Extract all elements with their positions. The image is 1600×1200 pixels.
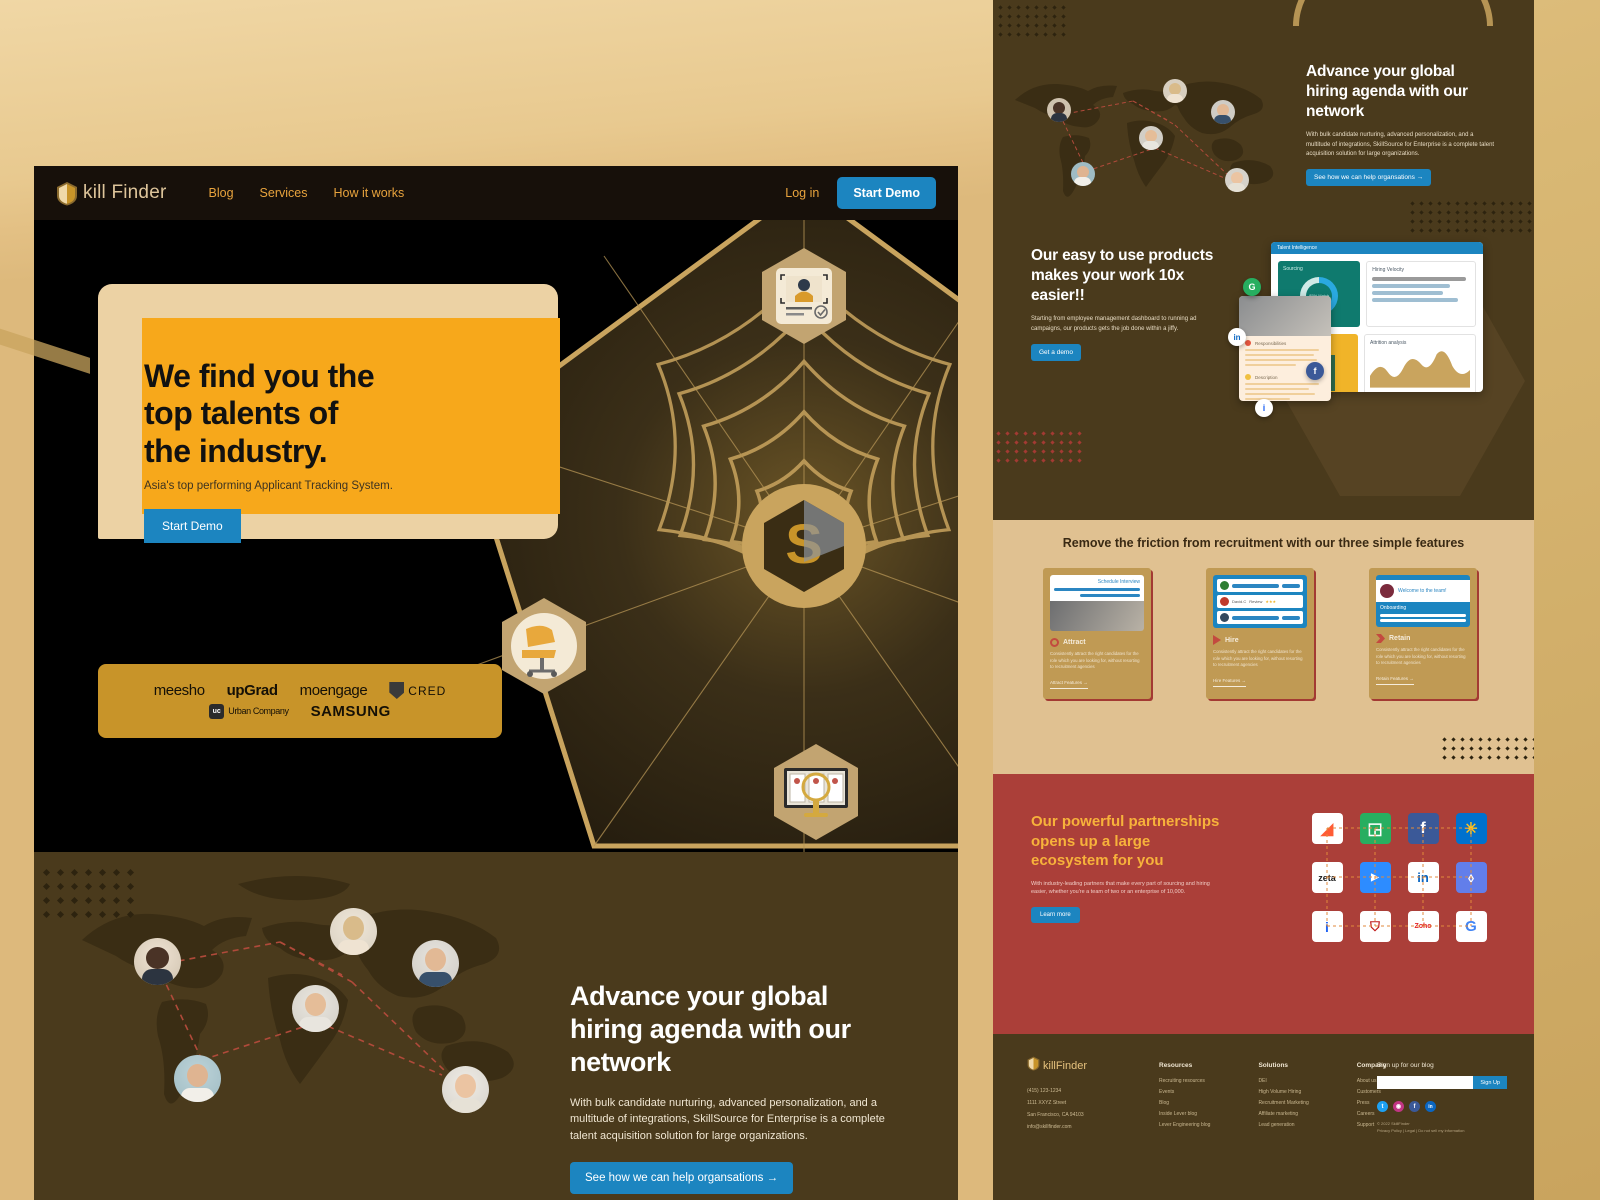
chevron-decoration	[0, 322, 90, 588]
products-body: Starting from employee management dashbo…	[1031, 315, 1221, 334]
right-network-cta-button[interactable]: See how we can help organsations →	[1306, 169, 1431, 186]
hire-mock-name: David.C	[1232, 599, 1246, 604]
footer-link[interactable]: Lead generation	[1258, 1120, 1308, 1131]
footer-column-resources: Resources Recruiting resources Events Bl…	[1159, 1062, 1210, 1131]
retain-mock-sub: Onboarding	[1380, 605, 1466, 611]
footer-brand-name: killFinder	[1043, 1060, 1087, 1072]
right-network-title: Advance your global hiring agenda with o…	[1306, 62, 1496, 122]
footer-link[interactable]: Events	[1159, 1087, 1210, 1098]
login-link[interactable]: Log in	[785, 186, 819, 200]
ring-icon	[1050, 638, 1059, 647]
panel-attrition: Attrition analysis	[1364, 334, 1476, 392]
left-preview-column: kill Finder Blog Services How it works L…	[0, 0, 993, 1200]
avatar	[442, 1066, 489, 1113]
nav-actions: Log in Start Demo	[785, 177, 936, 209]
avatar	[1139, 126, 1163, 150]
area-chart-mini	[1370, 346, 1470, 388]
footer-link[interactable]: Lever Engineering blog	[1159, 1120, 1210, 1131]
nav-links: Blog Services How it works	[209, 186, 405, 200]
partner-logo-grid: ◢ ◲ f ✳ zeta ▶ in ⬨ i ⛉ Zoho G	[1303, 804, 1495, 951]
footer-legal: © 2022 SkillFinder Privacy Policy | Lega…	[1377, 1120, 1507, 1134]
attract-mock-title: Schedule Interview	[1054, 579, 1140, 585]
chevron-icon	[1376, 634, 1385, 643]
feature-name-retain: Retain	[1376, 634, 1470, 643]
footer-link[interactable]: DEI	[1258, 1076, 1308, 1087]
dashboard-title: Talent Intelligence	[1277, 245, 1317, 251]
feature-card-attract[interactable]: Schedule Interview Attract Consistently …	[1043, 568, 1151, 699]
client-logo-moengage: moengage	[300, 682, 368, 699]
avatar	[1211, 100, 1235, 124]
play-icon	[1213, 635, 1221, 645]
client-logos-bar: meesho upGrad moengage CRED uc Urban Com…	[98, 664, 502, 738]
feature-link-attract[interactable]: Attract Features →	[1050, 680, 1088, 689]
client-logos-row-2: uc Urban Company SAMSUNG	[209, 703, 391, 720]
nav-link-how-it-works[interactable]: How it works	[333, 186, 404, 200]
footer-link[interactable]: Affiliate marketing	[1258, 1109, 1308, 1120]
panel-velocity-title: Hiring Velocity	[1372, 267, 1470, 273]
client-logos-row-1: meesho upGrad moengage CRED	[154, 682, 447, 699]
right-network-body: With bulk candidate nurturing, advanced …	[1306, 131, 1496, 159]
feature-link-retain[interactable]: Retain Features →	[1376, 676, 1414, 685]
page-root: kill Finder Blog Services How it works L…	[0, 0, 1600, 1200]
dot-decoration-left	[44, 870, 133, 917]
partnerships-section: Our powerful partnerships opens up a lar…	[993, 774, 1534, 1034]
hero-start-demo-button[interactable]: Start Demo	[144, 509, 241, 543]
avatar	[292, 985, 339, 1032]
feature-cards: Schedule Interview Attract Consistently …	[1043, 568, 1477, 699]
zoho-icon[interactable]: Zoho	[1408, 911, 1439, 942]
footer-copyright: © 2022 SkillFinder	[1377, 1120, 1507, 1127]
walmart-icon[interactable]: ✳	[1456, 813, 1487, 844]
facebook-icon: f	[1306, 362, 1324, 380]
indeed-icon: i	[1255, 399, 1273, 417]
nav-link-blog[interactable]: Blog	[209, 186, 234, 200]
feature-desc-retain: Consistently attract the right candidate…	[1376, 647, 1470, 667]
social-links: t ◉ f in	[1377, 1101, 1507, 1112]
partnerships-body: With industry-leading partners that make…	[1031, 880, 1221, 898]
brand-name: kill Finder	[83, 182, 167, 204]
linkedin-icon: in	[1228, 328, 1246, 346]
features-section: Remove the friction from recruitment wit…	[993, 520, 1534, 774]
start-demo-button[interactable]: Start Demo	[837, 177, 936, 209]
dashboard-header: Talent Intelligence	[1271, 242, 1483, 254]
map-avatars	[62, 870, 552, 1140]
footer-link[interactable]: Recruitment Marketing	[1258, 1098, 1308, 1109]
attract-mock-photo	[1050, 601, 1144, 631]
avatar	[330, 908, 377, 955]
feature-desc-attract: Consistently attract the right candidate…	[1050, 651, 1144, 671]
panel-hiring-velocity: Hiring Velocity	[1366, 261, 1476, 327]
footer-link[interactable]: High Volume Hiring	[1258, 1087, 1308, 1098]
dot-decoration-tl	[999, 6, 1065, 36]
greenhouse-icon: G	[1243, 278, 1261, 296]
client-logo-meesho: meesho	[154, 682, 205, 699]
linkedin-icon[interactable]: in	[1425, 1101, 1436, 1112]
panel-sourcing-title: Sourcing	[1283, 266, 1355, 272]
hero-headline: We find you the top talents of the indus…	[144, 358, 574, 470]
feature-link-hire[interactable]: Hire Features →	[1213, 678, 1246, 687]
dot-decoration-features	[1443, 738, 1534, 759]
map-avatars-small	[1003, 58, 1293, 218]
shield-logo-icon	[1027, 1056, 1040, 1076]
zeta-icon[interactable]: zeta	[1312, 862, 1343, 893]
right-network-copy: Advance your global hiring agenda with o…	[1306, 62, 1496, 186]
right-network-section: Advance your global hiring agenda with o…	[993, 0, 1534, 232]
right-preview-column: Advance your global hiring agenda with o…	[993, 0, 1534, 1200]
retain-mock: Welcome to the team! Onboarding	[1376, 575, 1470, 627]
shield-logo-icon	[56, 181, 78, 206]
hire-mock-action: Review	[1249, 599, 1262, 604]
twitter-icon[interactable]: t	[1377, 1101, 1388, 1112]
products-section: Our easy to use products makes your work…	[993, 232, 1534, 520]
attract-mock: Schedule Interview	[1050, 575, 1144, 631]
partnerships-copy: Our powerful partnerships opens up a lar…	[1031, 812, 1221, 923]
resume-section-2: Description	[1255, 375, 1278, 380]
get-a-demo-button[interactable]: Get a demo	[1031, 344, 1081, 361]
desktop-mockup: kill Finder Blog Services How it works L…	[34, 166, 958, 1200]
newsletter-heading: Sign up for our blog	[1377, 1062, 1507, 1069]
newsletter-email-input[interactable]	[1377, 1076, 1473, 1089]
ethereum-icon[interactable]: ⬨	[1456, 862, 1487, 893]
network-cta-button[interactable]: See how we can help organsations →	[570, 1162, 793, 1194]
resume-photo	[1239, 296, 1331, 336]
network-body: With bulk candidate nurturing, advanced …	[570, 1095, 900, 1145]
client-logo-urban-company: Urban Company	[228, 707, 288, 716]
instagram-icon[interactable]: ◉	[1393, 1101, 1404, 1112]
hero-subheadline: Asia's top performing Applicant Tracking…	[144, 480, 574, 492]
avatar	[1071, 162, 1095, 186]
footer-heading-solutions: Solutions	[1258, 1062, 1308, 1069]
nav-link-services[interactable]: Services	[260, 186, 308, 200]
products-copy: Our easy to use products makes your work…	[1031, 246, 1221, 361]
bullet-icon	[1245, 374, 1251, 380]
google-icon[interactable]: G	[1456, 911, 1487, 942]
client-logo-samsung: SAMSUNG	[311, 703, 391, 720]
network-title: Advance your global hiring agenda with o…	[570, 980, 900, 1079]
greenhouse-icon[interactable]: ◲	[1360, 813, 1391, 844]
newsletter-form: Sign Up	[1377, 1076, 1507, 1089]
hero-section: S	[34, 220, 958, 852]
footer-link[interactable]: Inside Lever blog	[1159, 1109, 1210, 1120]
avatar	[174, 1055, 221, 1102]
partnerships-title: Our powerful partnerships opens up a lar…	[1031, 812, 1221, 871]
urban-company-badge-icon: uc	[209, 704, 224, 719]
learn-more-button[interactable]: Learn more	[1031, 907, 1080, 923]
facebook-icon[interactable]: f	[1409, 1101, 1420, 1112]
footer-heading-resources: Resources	[1159, 1062, 1210, 1069]
feature-desc-hire: Consistently attract the right candidate…	[1213, 649, 1307, 669]
linkedin-icon[interactable]: in	[1408, 862, 1439, 893]
footer-link[interactable]: Blog	[1159, 1098, 1210, 1109]
network-section: Advance your global hiring agenda with o…	[34, 852, 958, 1200]
products-title: Our easy to use products makes your work…	[1031, 246, 1221, 306]
freshworks-icon[interactable]: ◢	[1312, 813, 1343, 844]
bullet-icon	[1245, 340, 1251, 346]
facebook-icon[interactable]: f	[1408, 813, 1439, 844]
arc-decoration	[1293, 0, 1493, 26]
avatar	[1225, 168, 1249, 192]
footer-link-columns: Resources Recruiting resources Events Bl…	[1159, 1062, 1386, 1131]
dot-decoration-red-left	[997, 432, 1081, 462]
feature-card-retain[interactable]: Welcome to the team! Onboarding Retain C…	[1369, 568, 1477, 699]
footer-link[interactable]: Recruiting resources	[1159, 1076, 1210, 1087]
zoom-icon[interactable]: ▶	[1360, 862, 1391, 893]
footer: killFinder (415) 123-1234 1111 XXYZ Stre…	[993, 1034, 1534, 1200]
client-logo-upgrad: upGrad	[227, 682, 278, 699]
network-copy: Advance your global hiring agenda with o…	[570, 980, 900, 1194]
hire-mock: David.C Review ★★★	[1213, 575, 1307, 628]
footer-column-solutions: Solutions DEI High Volume Hiring Recruit…	[1258, 1062, 1308, 1131]
retain-mock-title: Welcome to the team!	[1398, 588, 1447, 594]
newsletter-signup: Sign up for our blog Sign Up t ◉ f in © …	[1377, 1062, 1507, 1134]
feature-name-hire: Hire	[1213, 635, 1307, 645]
mcafee-icon[interactable]: ⛉	[1360, 911, 1391, 942]
hero-text-block: We find you the top talents of the indus…	[144, 358, 574, 543]
hire-mock-stars: ★★★	[1265, 599, 1276, 604]
avatar	[412, 940, 459, 987]
brand-logo[interactable]: kill Finder	[56, 181, 167, 206]
feature-card-hire[interactable]: David.C Review ★★★ Hire Consistently att…	[1206, 568, 1314, 699]
resume-card-mockup: Responsibilities Description	[1239, 296, 1331, 401]
newsletter-signup-button[interactable]: Sign Up	[1473, 1076, 1507, 1089]
indeed-icon[interactable]: i	[1312, 911, 1343, 942]
resume-section-1: Responsibilities	[1255, 341, 1286, 346]
avatar	[1163, 79, 1187, 103]
features-title: Remove the friction from recruitment wit…	[993, 536, 1534, 550]
footer-legal-links[interactable]: Privacy Policy | Legal | Do not sell my …	[1377, 1127, 1507, 1134]
client-logo-cred: CRED	[408, 684, 446, 698]
cred-shield-icon	[389, 682, 404, 699]
avatar	[134, 938, 181, 985]
dot-decoration-mid-right	[1411, 202, 1531, 232]
avatar	[1047, 98, 1071, 122]
feature-name-attract: Attract	[1050, 638, 1144, 647]
navbar: kill Finder Blog Services How it works L…	[34, 166, 958, 220]
